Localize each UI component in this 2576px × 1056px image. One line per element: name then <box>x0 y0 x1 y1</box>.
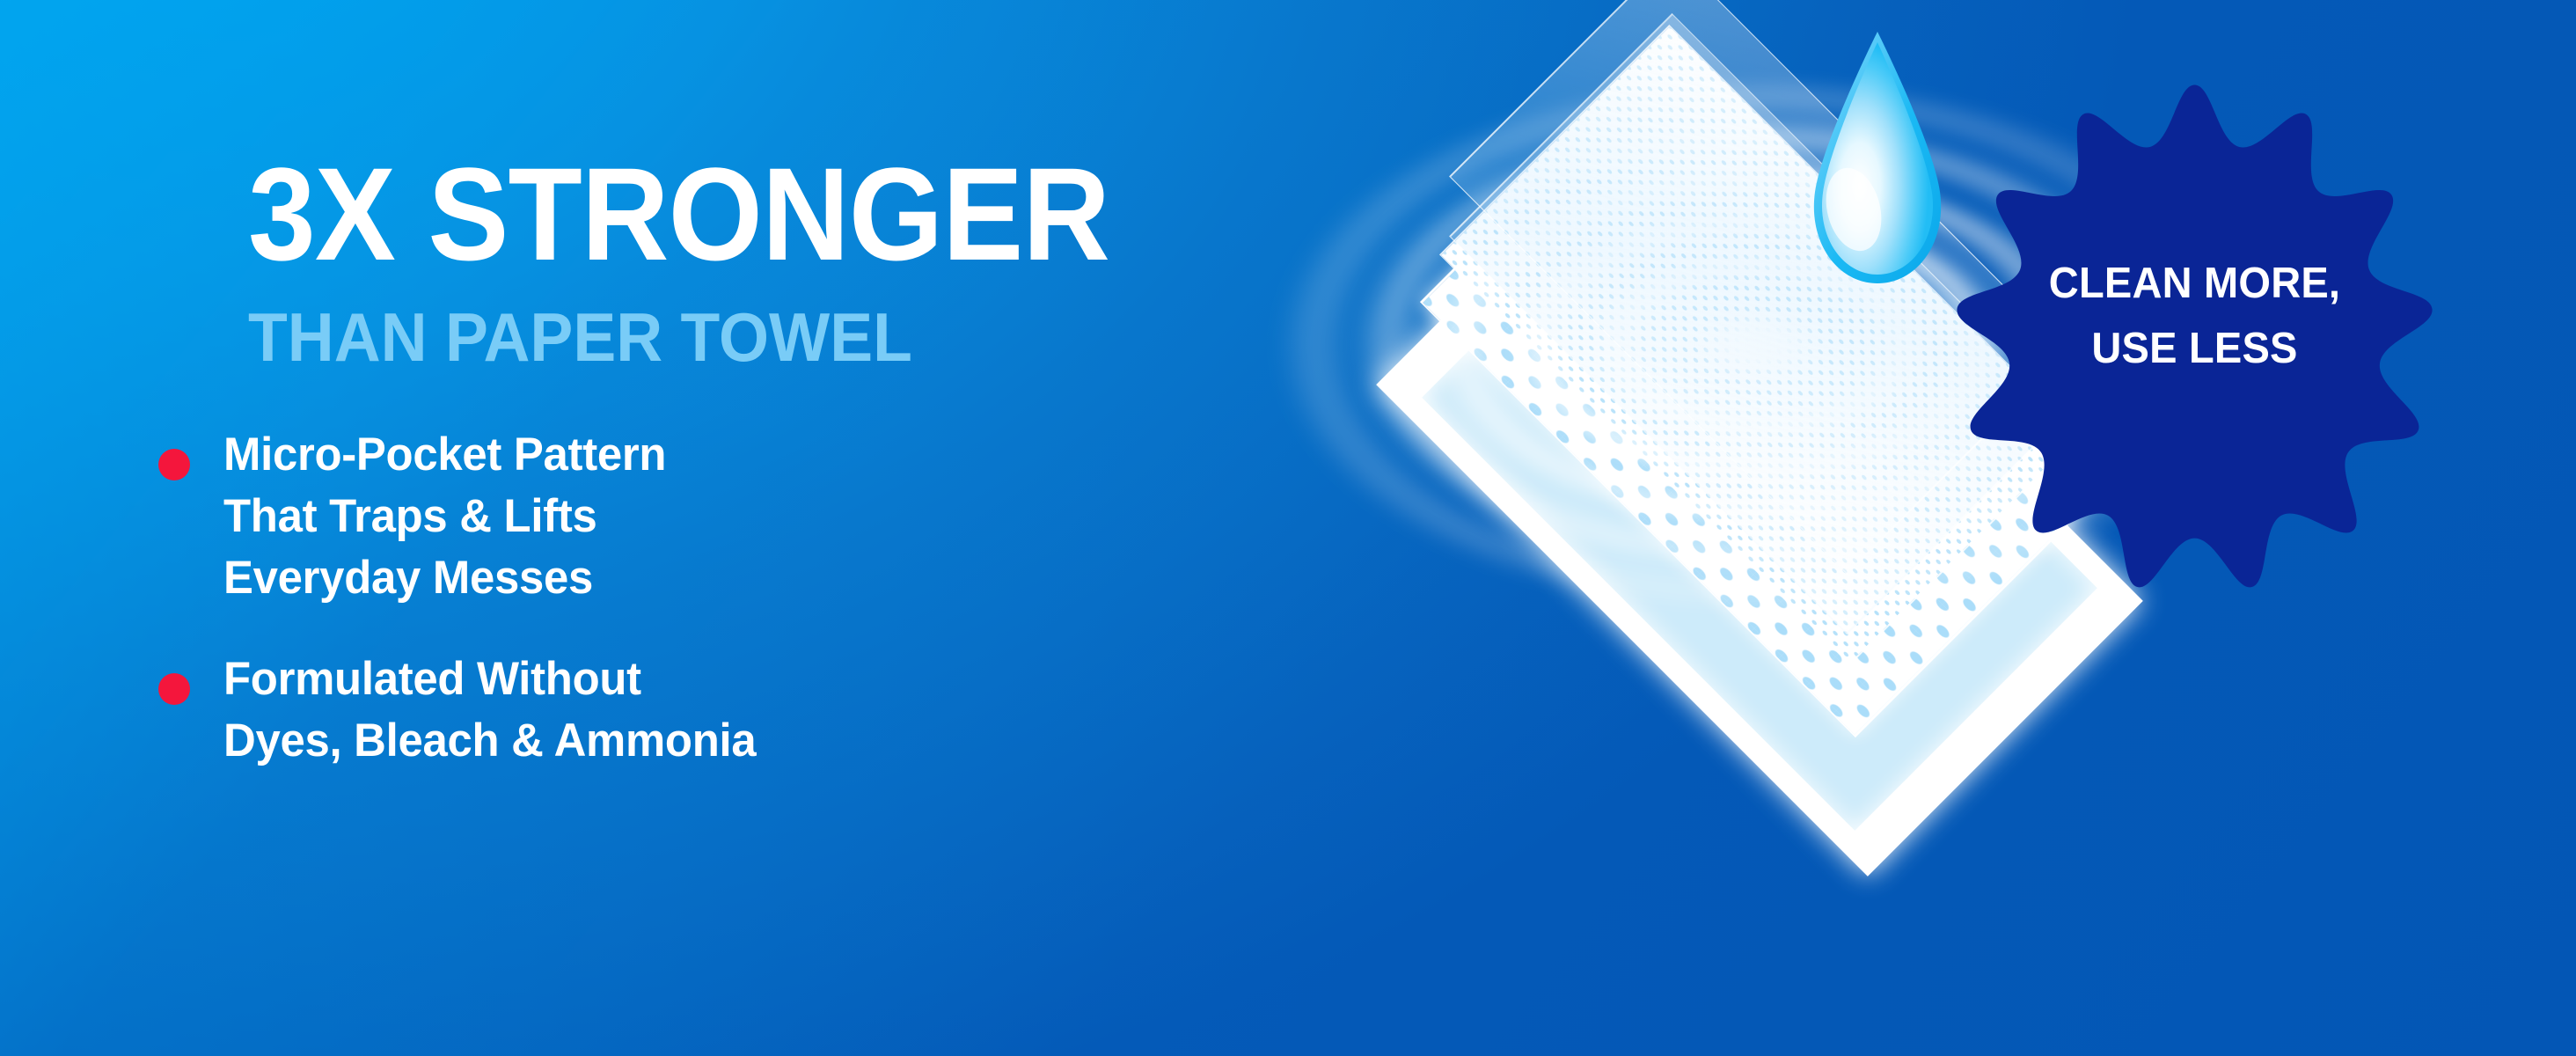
water-droplet-icon <box>1794 28 1961 292</box>
badge-text: CLEAN MORE, USE LESS <box>1965 259 2425 375</box>
list-item-line: Everyday Messes <box>223 554 666 601</box>
bullet-dot-icon <box>158 449 190 480</box>
page-subtitle: THAN PAPER TOWEL <box>248 303 1224 371</box>
list-item-line: Micro-Pocket Pattern <box>223 431 666 478</box>
feature-list: Micro-Pocket Pattern That Traps & Lifts … <box>158 431 1214 764</box>
list-item-text: Micro-Pocket Pattern That Traps & Lifts … <box>223 431 666 601</box>
badge-line: USE LESS <box>1965 324 2425 375</box>
status-badge: CLEAN MORE, USE LESS <box>1955 84 2434 595</box>
bullet-dot-icon <box>158 673 190 705</box>
promo-banner: 3X STRONGER THAN PAPER TOWEL Micro-Pocke… <box>0 0 2576 1056</box>
page-title: 3X STRONGER <box>248 148 1204 280</box>
badge-line: CLEAN MORE, <box>1965 259 2425 310</box>
list-item: Formulated Without Dyes, Bleach & Ammoni… <box>158 656 1214 764</box>
list-item-text: Formulated Without Dyes, Bleach & Ammoni… <box>223 656 756 764</box>
copy-block: 3X STRONGER THAN PAPER TOWEL <box>248 148 1286 371</box>
list-item: Micro-Pocket Pattern That Traps & Lifts … <box>158 431 1214 601</box>
list-item-line: Formulated Without <box>223 656 756 702</box>
list-item-line: Dyes, Bleach & Ammonia <box>223 717 756 764</box>
list-item-line: That Traps & Lifts <box>223 493 666 539</box>
